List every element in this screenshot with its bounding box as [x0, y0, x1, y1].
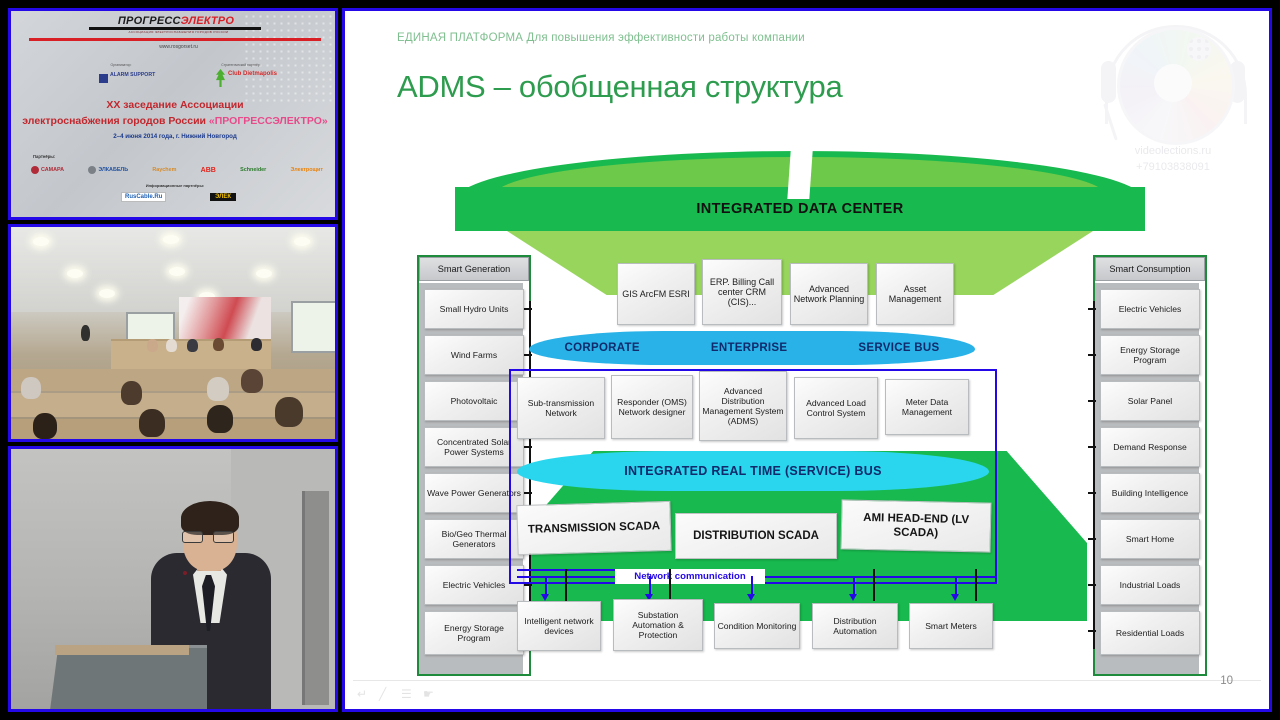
info-partner-1: ЭЛЕК	[210, 193, 236, 201]
strategic-partner-logo: Club Dietmapolis	[216, 69, 286, 91]
right-tick	[1088, 630, 1096, 632]
speaker-hair	[181, 501, 239, 535]
right-tick	[1088, 492, 1096, 494]
tree-icon	[216, 69, 225, 87]
audience-head	[207, 405, 233, 433]
left-item-0[interactable]: Small Hydro Units	[424, 289, 524, 329]
smart-consumption-header: Smart Consumption	[1095, 257, 1205, 281]
ceiling-lamp-icon	[33, 237, 49, 246]
logo-main-text: ПРОГРЕСС	[118, 15, 181, 27]
ceiling-lamp-icon	[99, 289, 115, 298]
podium	[49, 645, 207, 712]
stage-banner	[179, 297, 271, 339]
sphere-icon	[1187, 37, 1211, 61]
adms-app-3[interactable]: Advanced Load Control System	[794, 377, 878, 439]
audience-head	[275, 397, 303, 427]
ceiling-lamp-icon	[256, 269, 272, 278]
audience-head	[21, 377, 41, 399]
field-device-4[interactable]: Smart Meters	[909, 603, 993, 649]
progresselectro-logo: ПРОГРЕССЭЛЕКТРО	[91, 15, 261, 29]
drop-line	[975, 569, 977, 601]
adms-app-2[interactable]: Advanced Distribution Management System …	[699, 371, 787, 441]
integrated-realtime-service-bus: INTEGRATED REAL TIME (SERVICE) BUS	[517, 451, 989, 491]
right-tick	[1088, 584, 1096, 586]
microphone-icon	[183, 571, 187, 575]
partner-logo-3: ABB	[201, 167, 216, 174]
right-tick	[1088, 446, 1096, 448]
seat-row	[11, 369, 335, 391]
partner-logo-row: САМАРА ЭЛКАБЕЛЬ Raychem ABB Schneider Эл…	[31, 163, 323, 177]
drop-line	[873, 569, 875, 601]
slide-toolbar[interactable]: ↵ ╱ ☰ ☛	[357, 685, 436, 703]
enterprise-app-2[interactable]: Advanced Network Planning	[790, 263, 868, 325]
hall-scene	[11, 227, 335, 439]
ceiling-lamp-icon	[294, 237, 310, 246]
partner-mark-icon	[88, 166, 96, 174]
adms-app-4[interactable]: Meter Data Management	[885, 379, 969, 435]
slide-kicker: ЕДИНАЯ ПЛАТФОРМА Для повышения эффективн…	[397, 32, 805, 44]
right-tick	[1088, 354, 1096, 356]
adms-architecture-diagram: INTEGRATED DATA CENTER Smart Generation …	[417, 151, 1207, 676]
page-title: ADMS – обобщенная структура	[397, 69, 842, 105]
integrated-data-center-label: INTEGRATED DATA CENTER	[455, 201, 1145, 217]
drop-line	[669, 569, 671, 601]
adms-app-1[interactable]: Responder (OMS) Network designer	[611, 375, 693, 439]
arrow-down-icon	[951, 594, 959, 601]
right-tick	[1088, 538, 1096, 540]
left-tick	[524, 308, 532, 310]
strategic-partner-label: Стратегический партнёр:	[201, 63, 281, 67]
podium-desk	[55, 645, 189, 655]
bus-word-0: CORPORATE	[565, 342, 640, 354]
adms-app-0[interactable]: Sub-transmission Network	[517, 377, 605, 439]
right-item-4[interactable]: Building Intelligence	[1100, 473, 1200, 513]
right-item-1[interactable]: Energy Storage Program	[1100, 335, 1200, 375]
info-partner-row: RusCable.Ru ЭЛЕК	[121, 191, 236, 203]
page-number: 10	[1220, 675, 1233, 687]
panelist-head	[147, 339, 158, 352]
smart-generation-header: Smart Generation	[419, 257, 529, 281]
audience-head	[33, 413, 57, 439]
audience-head	[207, 377, 229, 401]
pointer-icon[interactable]: ☛	[423, 688, 436, 700]
info-partners-label: Информационные партнёры:	[25, 183, 325, 188]
right-item-0[interactable]: Electric Vehicles	[1100, 289, 1200, 329]
video-sidebar: ПРОГРЕССЭЛЕКТРО АССОЦИАЦИЯ ЭЛЕКТРОСНАБЖЕ…	[8, 8, 338, 712]
event-heading-line2-text: электроснабжения городов России	[22, 115, 209, 127]
eyeglasses-icon	[182, 531, 234, 541]
organizer-name: ALARM SUPPORT	[110, 73, 155, 79]
scada-2[interactable]: AMI HEAD-END (LV SCADA)	[840, 499, 991, 552]
partner-mark-icon	[31, 166, 39, 174]
door-frame	[302, 491, 329, 705]
projection-screen-right	[291, 301, 338, 353]
integrated-data-center: INTEGRATED DATA CENTER	[455, 151, 1145, 237]
conference-hall-video[interactable]	[8, 224, 338, 442]
field-device-0[interactable]: Intelligent network devices	[517, 601, 601, 651]
title-card-background: ПРОГРЕССЭЛЕКТРО АССОЦИАЦИЯ ЭЛЕКТРОСНАБЖЕ…	[11, 11, 335, 217]
field-device-3[interactable]: Distribution Automation	[812, 603, 898, 649]
left-tick	[524, 354, 532, 356]
audience-head	[121, 381, 142, 405]
event-heading-line2: электроснабжения городов России «ПРОГРЕС…	[19, 115, 331, 127]
partner-logo-5: Электрощит	[291, 167, 323, 173]
field-device-1[interactable]: Substation Automation & Protection	[613, 599, 703, 651]
organizer-logo: ALARM SUPPORT	[99, 73, 157, 85]
pen-icon[interactable]: ╱	[379, 688, 392, 700]
arrow-down-icon	[541, 594, 549, 601]
bus-word-2: SERVICE BUS	[858, 342, 939, 354]
right-tick	[1088, 308, 1096, 310]
organizer-mark-icon	[99, 74, 108, 83]
headset-earcup-left-icon	[1101, 61, 1116, 103]
partner-logo-1: ЭЛКАБЕЛЬ	[88, 166, 128, 174]
enterprise-app-0[interactable]: GIS ArcFM ESRI	[617, 263, 695, 325]
panelist-head	[166, 339, 177, 352]
event-date-place: 2–4 июня 2014 года, г. Нижний Новгород	[25, 133, 325, 140]
enterprise-app-1[interactable]: ERP. Billing Call center CRM (CIS)...	[702, 259, 782, 325]
event-heading-accent: «ПРОГРЕССЭЛЕКТРО»	[209, 115, 328, 127]
panelist-head	[251, 338, 262, 351]
standing-person	[81, 325, 90, 341]
ceiling-lamp-icon	[163, 235, 179, 244]
speaker-scene	[11, 449, 335, 709]
left-item-7[interactable]: Energy Storage Program	[424, 611, 524, 655]
association-url: www.rosgorset.ru	[71, 44, 286, 50]
audience-head	[139, 409, 165, 437]
drop-line	[565, 569, 567, 601]
slide-canvas: ЕДИНАЯ ПЛАТФОРМА Для повышения эффективн…	[345, 11, 1269, 709]
panelist-head	[187, 339, 198, 352]
list-icon[interactable]: ☰	[401, 688, 414, 700]
ceiling-lamp-icon	[169, 267, 185, 276]
right-item-3[interactable]: Demand Response	[1100, 427, 1200, 467]
info-partner-0: RusCable.Ru	[121, 192, 166, 202]
partner-logo-4: Schneider	[240, 167, 266, 173]
left-tick	[524, 584, 532, 586]
partner-logo-2: Raychem	[152, 167, 176, 173]
right-item-2[interactable]: Solar Panel	[1100, 381, 1200, 421]
realtime-bus-label: INTEGRATED REAL TIME (SERVICE) BUS	[624, 464, 881, 478]
red-divider	[29, 38, 321, 41]
scada-1[interactable]: DISTRIBUTION SCADA	[675, 513, 837, 559]
event-title-card[interactable]: ПРОГРЕССЭЛЕКТРО АССОЦИАЦИЯ ЭЛЕКТРОСНАБЖЕ…	[8, 8, 338, 220]
arrow-down-icon	[849, 594, 857, 601]
arrow-down-icon	[747, 594, 755, 601]
strategic-partner-name: Club Dietmapolis	[228, 71, 277, 78]
logo-accent-text: ЭЛЕКТРО	[181, 15, 234, 27]
right-item-6[interactable]: Industrial Loads	[1100, 565, 1200, 605]
idc-gap	[787, 151, 812, 199]
partners-label: Партнёры:	[33, 154, 55, 159]
speaker-podium-video[interactable]	[8, 446, 338, 712]
association-subtitle: АССОЦИАЦИЯ ЭЛЕКТРОСНАБЖЕНИЯ ГОРОДОВ РОСС…	[71, 30, 286, 34]
audience-head	[241, 369, 263, 393]
right-item-5[interactable]: Smart Home	[1100, 519, 1200, 559]
undo-icon[interactable]: ↵	[357, 688, 370, 700]
organizer-label: Организатор:	[81, 63, 161, 67]
enterprise-app-3[interactable]: Asset Management	[876, 263, 954, 325]
partner-logo-0: САМАРА	[31, 166, 64, 174]
field-device-2[interactable]: Condition Monitoring	[714, 603, 800, 649]
ceiling-lamp-icon	[67, 269, 83, 278]
screen: ПРОГРЕССЭЛЕКТРО АССОЦИАЦИЯ ЭЛЕКТРОСНАБЖЕ…	[0, 0, 1280, 720]
partner-label-0: САМАРА	[41, 167, 64, 173]
footer-divider	[353, 680, 1261, 681]
corporate-enterprise-service-bus: CORPORATE ENTERPRISE SERVICE BUS	[529, 331, 975, 365]
right-item-7[interactable]: Residential Loads	[1100, 611, 1200, 655]
right-tick	[1088, 400, 1096, 402]
panelist-head	[213, 338, 224, 351]
bus-word-1: ENTERPRISE	[711, 342, 788, 354]
partner-label-1: ЭЛКАБЕЛЬ	[98, 167, 128, 173]
presentation-slide-panel[interactable]: ЕДИНАЯ ПЛАТФОРМА Для повышения эффективн…	[342, 8, 1272, 712]
network-communication-label: Network communication	[615, 569, 765, 584]
disc-hole-icon	[1154, 64, 1192, 102]
event-heading-line1: XX заседание Ассоциации	[25, 99, 325, 111]
scada-0[interactable]: TRANSMISSION SCADA	[516, 501, 671, 555]
